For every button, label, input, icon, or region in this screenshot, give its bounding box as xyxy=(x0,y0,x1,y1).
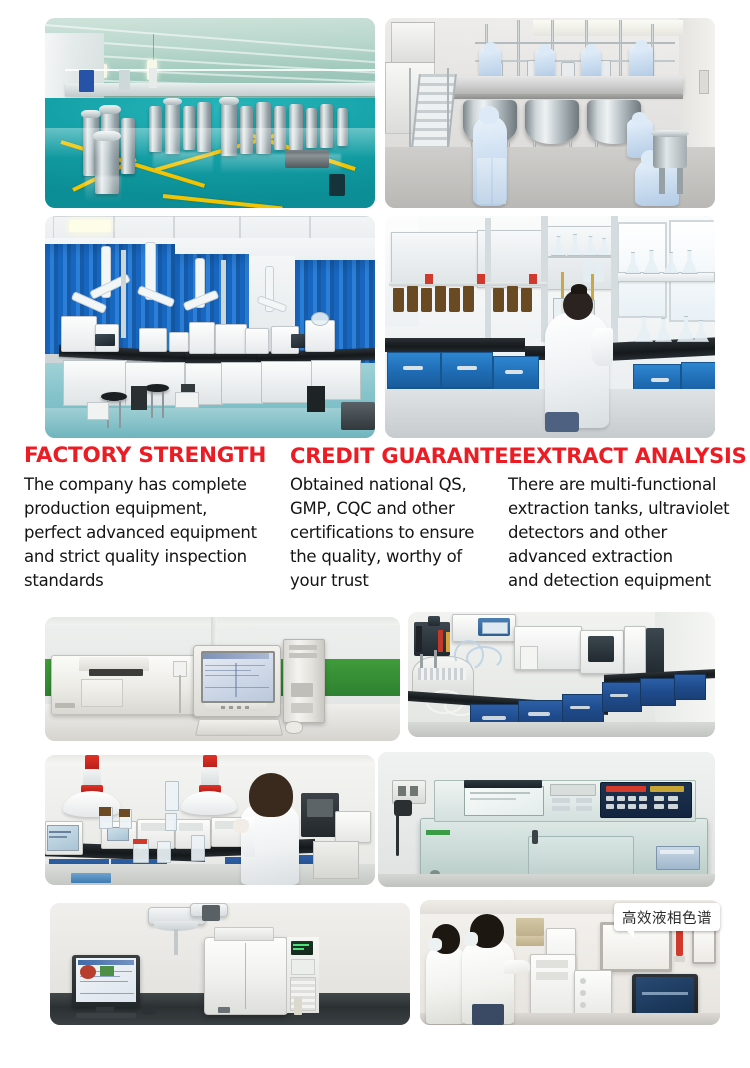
feature-heading-extract-analysis: EXTRACT ANALYSIS xyxy=(522,443,750,469)
photo-chemist-at-lab-bench xyxy=(385,216,715,438)
feature-column-factory-strength: FACTORY STRENGTH The company has complet… xyxy=(24,443,299,593)
feature-heading-credit-guarantee: CREDIT GUARANTEE xyxy=(290,443,505,469)
photo-spectrophotometer-workstation xyxy=(45,617,400,741)
photo-factory-production-hall xyxy=(45,18,375,208)
body-line: and detection equipment xyxy=(508,569,750,593)
feature-column-credit-guarantee: CREDIT GUARANTEE Obtained national QS, G… xyxy=(290,443,505,593)
body-line: Obtained national QS, xyxy=(290,473,505,497)
body-line: your trust xyxy=(290,569,505,593)
feature-body-factory-strength: The company has complete production equi… xyxy=(24,473,299,593)
body-line: standards xyxy=(24,569,299,593)
body-line: certifications to ensure xyxy=(290,521,505,545)
feature-text-band: FACTORY STRENGTH The company has complet… xyxy=(0,443,750,611)
photo-technician-fume-hoods xyxy=(45,755,375,885)
body-line: the quality, worthy of xyxy=(290,545,505,569)
hplc-callout-badge: 高效液相色谱 xyxy=(614,903,720,931)
body-line: detectors and other xyxy=(508,521,750,545)
body-line: perfect advanced equipment xyxy=(24,521,299,545)
body-line: extraction tanks, ultraviolet xyxy=(508,497,750,521)
photo-mixing-tank-cleanroom xyxy=(385,18,715,208)
photo-gas-chromatograph-station xyxy=(50,903,410,1025)
hplc-callout-text: 高效液相色谱 xyxy=(622,907,712,928)
body-line: GMP, CQC and other xyxy=(290,497,505,521)
body-line: production equipment, xyxy=(24,497,299,521)
photo-instrument-lab-blue-curtains xyxy=(45,216,375,438)
photo-instrument-row-blue-bench xyxy=(408,612,715,737)
feature-body-extract-analysis: There are multi-functional extraction ta… xyxy=(508,473,750,593)
body-line: There are multi-functional xyxy=(508,473,750,497)
banner-page: FACTORY STRENGTH The company has complet… xyxy=(0,0,750,1068)
body-line: advanced extraction xyxy=(508,545,750,569)
body-line: and strict quality inspection xyxy=(24,545,299,569)
feature-body-credit-guarantee: Obtained national QS, GMP, CQC and other… xyxy=(290,473,505,593)
body-line: The company has complete xyxy=(24,473,299,497)
photo-uv-vis-spectrophotometer xyxy=(378,752,715,887)
feature-heading-factory-strength: FACTORY STRENGTH xyxy=(24,443,299,469)
feature-column-extract-analysis: EXTRACT ANALYSIS There are multi-functio… xyxy=(508,443,750,593)
callout-tail-icon xyxy=(626,930,634,938)
